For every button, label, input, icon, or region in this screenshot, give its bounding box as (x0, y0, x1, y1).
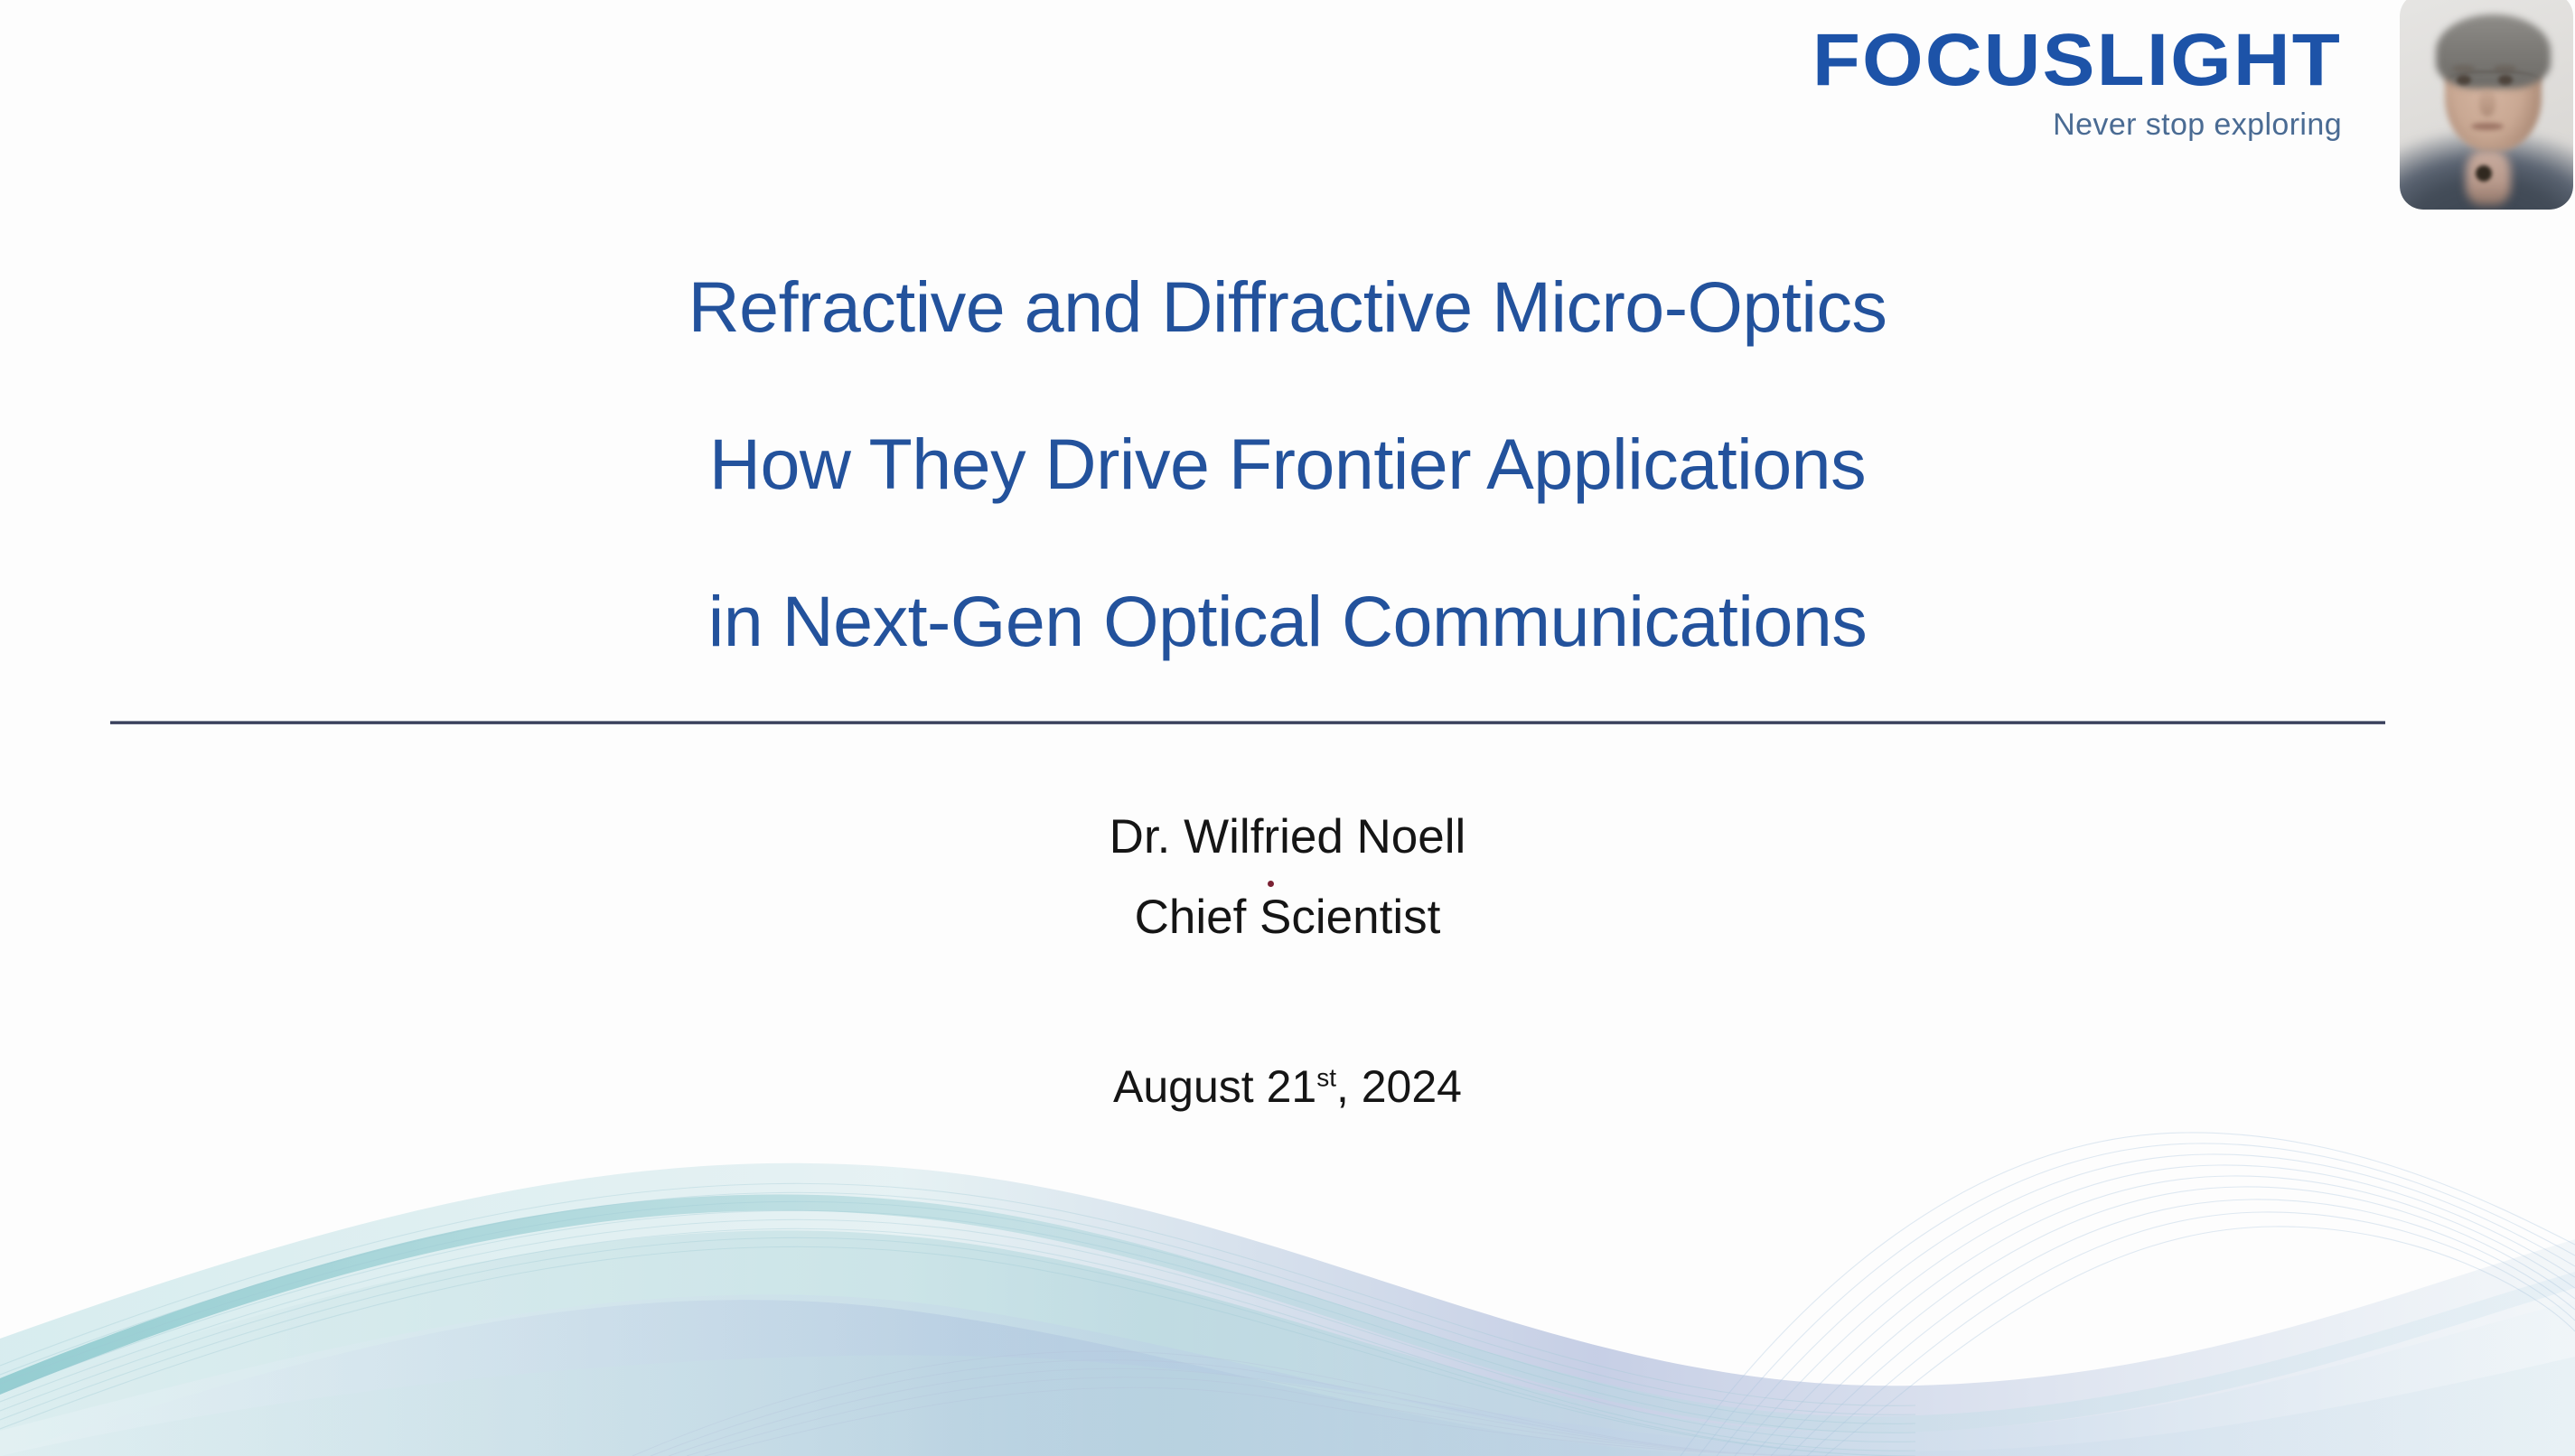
date-year: , 2024 (1336, 1061, 1462, 1112)
title-divider (110, 721, 2385, 724)
presenter-info: Dr. Wilfried Noell Chief Scientist (0, 813, 2575, 941)
title-line-2: How They Drive Frontier Applications (0, 428, 2575, 499)
brand-logo-block: FOCUSLIGHT Never stop exploring (1842, 23, 2342, 140)
presenter-role-label: Chief Scientist (1135, 891, 1441, 944)
date-month-day: August 21 (1113, 1061, 1316, 1112)
focuslight-wordmark-icon: FOCUSLIGHT (1812, 23, 2342, 98)
webcam-eye-left (2457, 75, 2470, 85)
presenter-role: Chief Scientist (1135, 893, 1441, 941)
title-line-3: in Next-Gen Optical Communications (0, 585, 2575, 657)
webcam-nose (2479, 89, 2495, 117)
brand-tagline: Never stop exploring (1842, 109, 2342, 140)
presentation-date: August 21st, 2024 (0, 1064, 2575, 1109)
presenter-name: Dr. Wilfried Noell (0, 813, 2575, 861)
decorative-wave-graphic (0, 1068, 2575, 1456)
stray-dot-artifact (1268, 881, 1274, 887)
webcam-eye-right (2498, 75, 2512, 85)
presenter-webcam-tile[interactable] (2400, 0, 2573, 210)
title-line-1: Refractive and Diffractive Micro-Optics (0, 271, 2575, 342)
date-ordinal-suffix: st (1316, 1063, 1336, 1091)
presentation-title-slide: FOCUSLIGHT Never stop exploring Refracti… (0, 0, 2575, 1456)
page-title: Refractive and Diffractive Micro-Optics … (0, 271, 2575, 657)
